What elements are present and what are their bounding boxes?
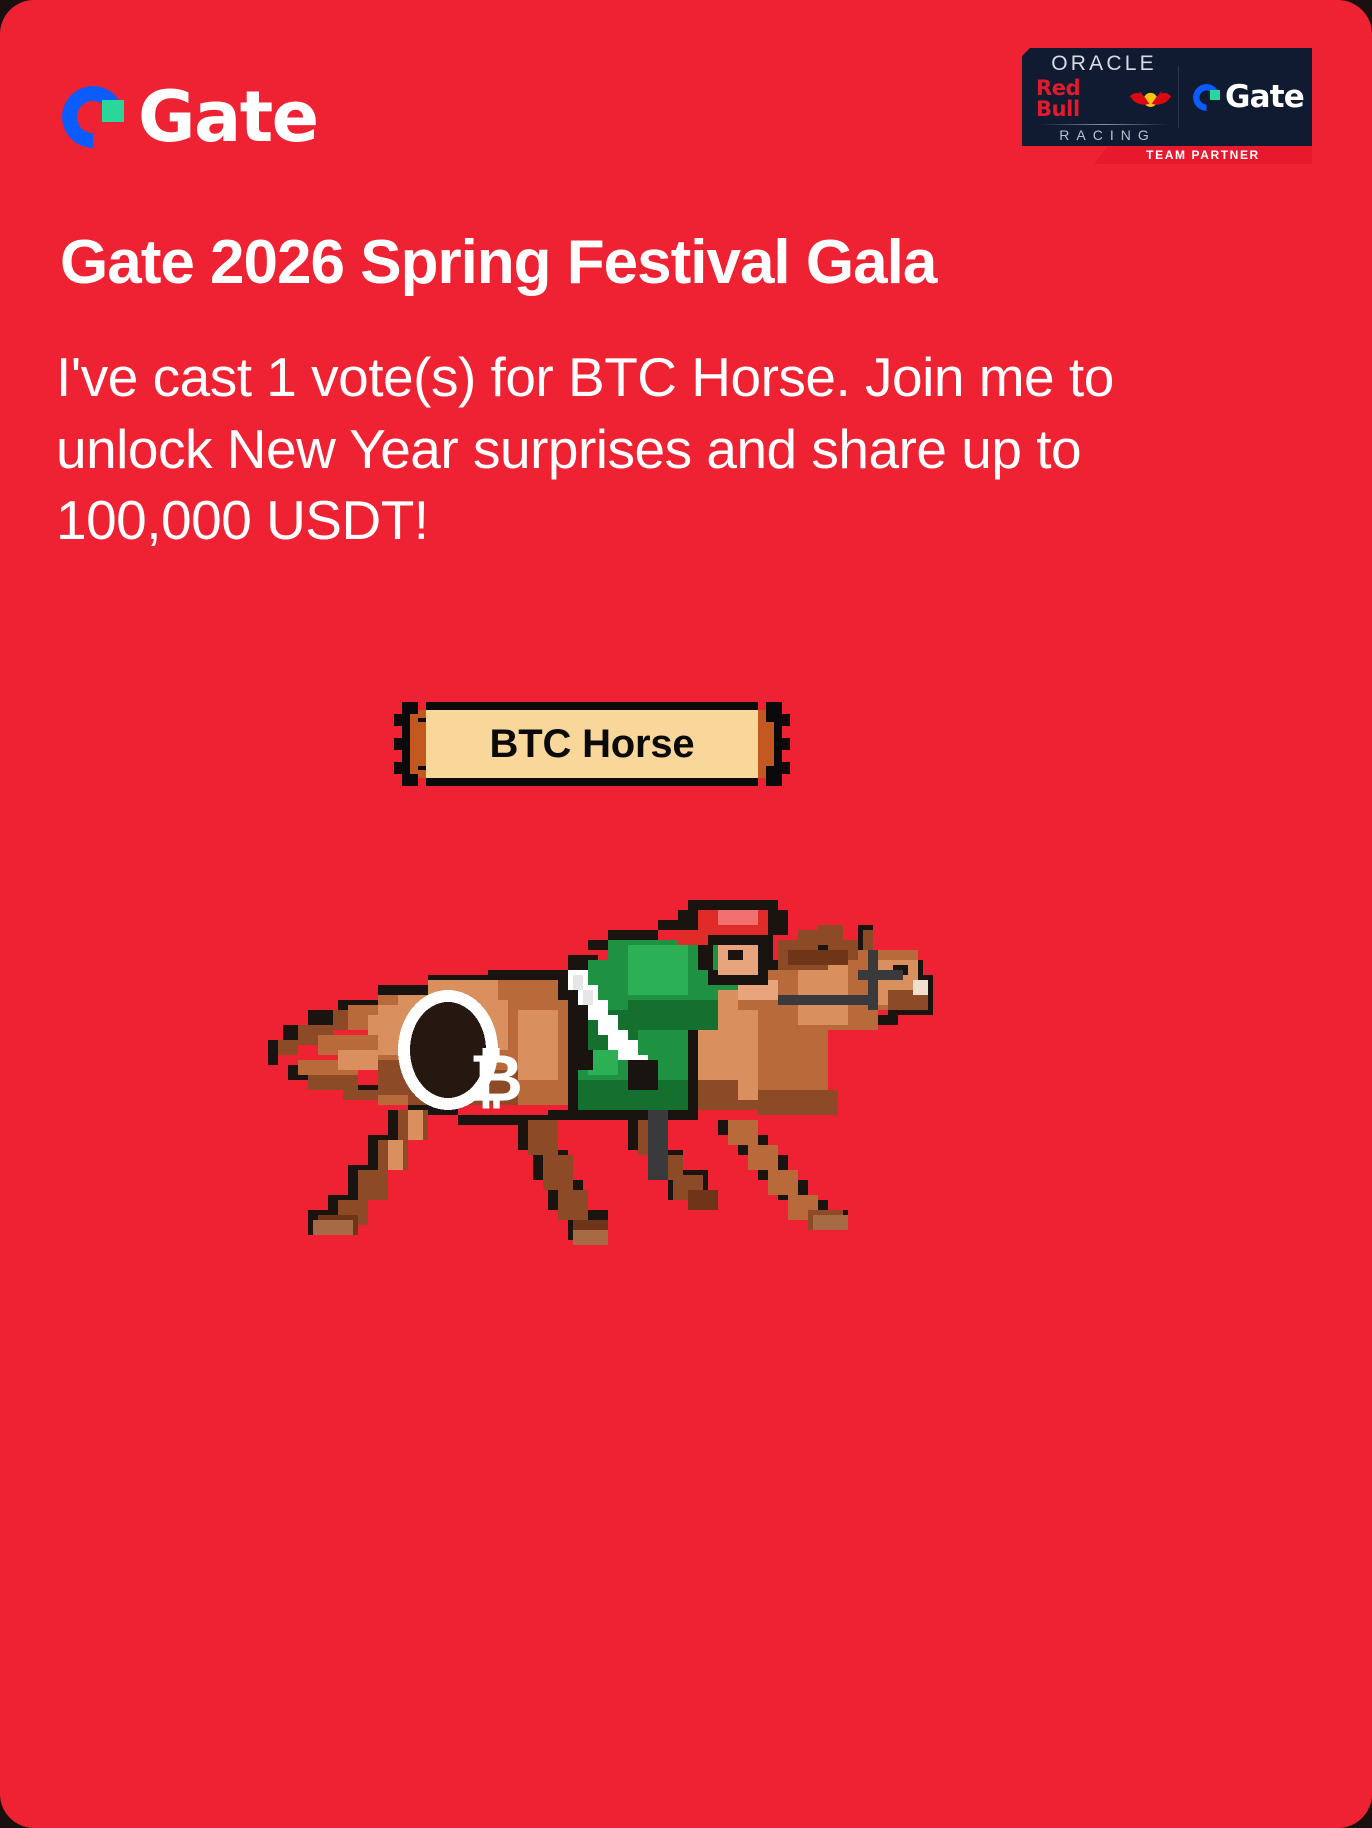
banner-label-text: BTC Horse [386, 694, 798, 794]
racing-wordmark: RACING [1052, 128, 1155, 142]
badge-vertical-divider [1178, 66, 1179, 128]
partner-badge-panel: ORACLE Red Bull RACING [1022, 48, 1312, 146]
gate-logo-square [102, 100, 124, 122]
bitcoin-symbol: ₿ [443, 1013, 549, 1143]
gate-logo-square-small [1210, 90, 1220, 100]
share-message: I've cast 1 vote(s) for BTC Horse. Join … [56, 342, 1156, 557]
oracle-wordmark: ORACLE [1051, 53, 1157, 74]
badge-gate-lockup: Gate [1185, 82, 1312, 113]
gate-wordmark: Gate [138, 82, 318, 152]
gate-brand-logo[interactable]: Gate [62, 82, 318, 152]
horse-illustration-icon [258, 860, 938, 1280]
red-bull-racing-lockup: ORACLE Red Bull RACING [1022, 53, 1172, 142]
page-title: Gate 2026 Spring Festival Gala [60, 228, 1180, 297]
team-partner-strip: TEAM PARTNER [1094, 146, 1312, 164]
btc-horse-pixel-art: ₿ [258, 860, 938, 1280]
card-header: Gate ORACLE Red Bull [0, 0, 1372, 190]
horse-name-banner[interactable]: BTC Horse [386, 694, 798, 794]
badge-divider-rule [1039, 124, 1169, 125]
red-bull-icon [1129, 89, 1172, 109]
team-partner-label: TEAM PARTNER [1146, 149, 1260, 161]
red-bull-row: Red Bull [1036, 78, 1172, 120]
gate-logo-icon [62, 86, 124, 148]
red-bull-wordmark: Red Bull [1036, 78, 1125, 120]
badge-gate-wordmark: Gate [1225, 82, 1304, 113]
gate-logo-icon-small [1193, 84, 1220, 111]
share-card: Gate ORACLE Red Bull [0, 0, 1372, 1828]
oracle-red-bull-racing-badge: ORACLE Red Bull RACING [1022, 48, 1312, 162]
